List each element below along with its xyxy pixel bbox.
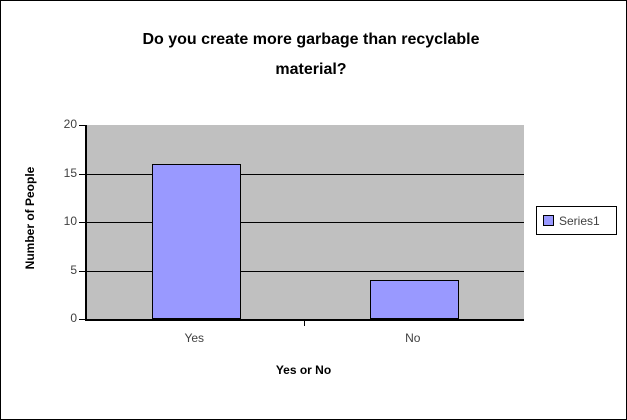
y-tick-mark [79,271,85,272]
legend-label-series1: Series1 [559,214,600,228]
y-axis-title: Number of People [23,138,37,298]
plot-area [85,125,524,321]
x-tick-mark [304,319,305,326]
y-tick-mark [79,222,85,223]
chart-container: Do you create more garbage than recyclab… [0,0,627,420]
x-axis-title: Yes or No [85,363,522,377]
chart-legend: Series1 [536,206,617,235]
y-tick-mark [79,125,85,126]
x-tick-label-yes: Yes [134,331,254,345]
chart-title-line-2: material? [61,55,561,85]
y-tick-label: 15 [37,167,77,179]
x-tick-label-no: No [353,331,473,345]
y-tick-mark [79,174,85,175]
chart-title: Do you create more garbage than recyclab… [61,25,561,85]
bar-yes [152,164,241,319]
legend-swatch-series1 [543,215,554,226]
bar-no [370,280,459,319]
y-tick-label: 20 [37,118,77,130]
y-tick-label: 10 [37,215,77,227]
y-tick-mark [79,319,85,320]
y-tick-label: 5 [37,264,77,276]
chart-title-line-1: Do you create more garbage than recyclab… [61,25,561,55]
y-tick-label: 0 [37,312,77,324]
